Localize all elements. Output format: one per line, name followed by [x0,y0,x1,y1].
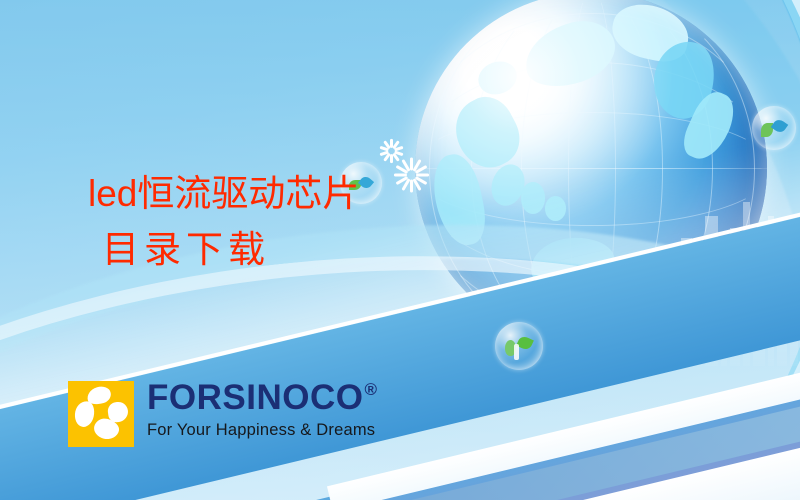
city-skyline-icon [620,196,800,366]
starburst-flower-icon [394,158,428,192]
four-petal-pinwheel-icon [68,381,134,447]
brand-name: FORSINOCO ® [147,381,377,415]
eco-bubble-icon [495,322,543,370]
headline-line-2: 目录下载 [88,222,359,278]
brand-name-text: FORSINOCO [147,381,363,415]
registered-trademark-icon: ® [364,381,377,398]
logo-text-block: FORSINOCO ® For Your Happiness & Dreams [147,381,377,440]
company-logo: FORSINOCO ® For Your Happiness & Dreams [68,381,377,447]
headline-line-1: led恒流驱动芯片 [88,166,359,222]
eco-bubble-icon [752,106,796,150]
promotional-banner: led恒流驱动芯片 目录下载 FORSINOCO ® For Your Happ… [0,0,800,500]
brand-tagline: For Your Happiness & Dreams [147,420,377,440]
headline-text: led恒流驱动芯片 目录下载 [88,166,359,278]
